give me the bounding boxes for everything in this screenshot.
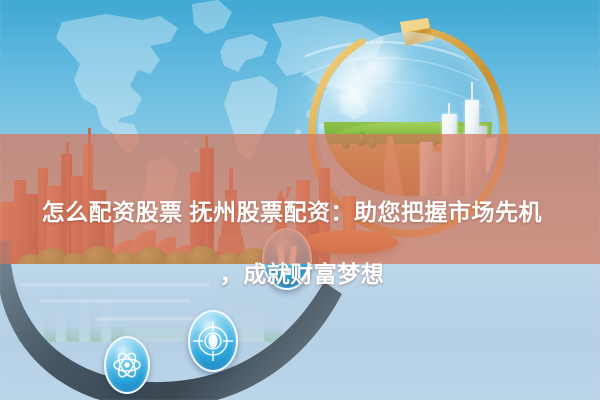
antenna: [471, 82, 473, 100]
page-title: 怎么配资股票 抚州股票配资：助您把握市场先机 ，成就财富梦想: [14, 166, 590, 352]
headline-line-1: 怎么配资股票 抚州股票配资：助您把握市场先机: [42, 199, 542, 225]
headline-line-2: ，成就财富梦想: [14, 259, 590, 290]
banner-image: 怎么配资股票 抚州股票配资：助您把握市场先机 ，成就财富梦想: [0, 0, 600, 400]
antenna: [448, 103, 450, 114]
